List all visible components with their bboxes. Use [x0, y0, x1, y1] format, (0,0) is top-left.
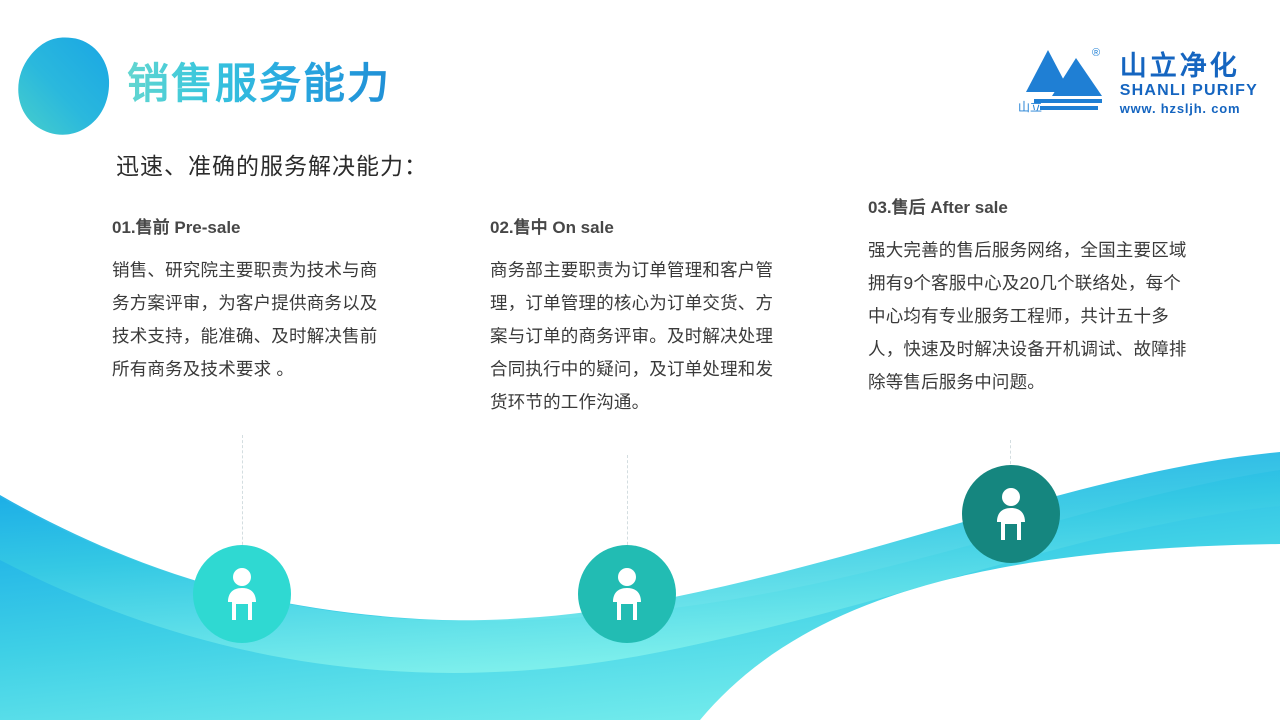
- section-subtitle: 迅速、准确的服务解决能力：: [116, 150, 428, 182]
- logo-company-name-en: SHANLI PURIFY: [1120, 81, 1258, 100]
- content-column-aftersale: 03.售后 After sale 强大完善的售后服务网络，全国主要区域拥有9个客…: [868, 196, 1188, 399]
- svg-text:®: ®: [1092, 47, 1100, 59]
- decorative-blob-shape: [16, 36, 112, 136]
- slide-canvas: 销售服务能力 ® 山立 山立净化 SHANLI PURIFY www. hzsl…: [0, 0, 1280, 720]
- page-title: 销售服务能力: [127, 58, 391, 110]
- person-icon: [607, 566, 647, 622]
- column-heading: 03.售后 After sale: [868, 196, 1188, 220]
- column-body-text: 销售、研究院主要职责为技术与商务方案评审，为客户提供商务以及技术支持，能准确、及…: [112, 254, 390, 386]
- milestone-node-onsale[interactable]: [578, 545, 676, 643]
- svg-text:山立: 山立: [1018, 99, 1042, 114]
- logo-website-url: www. hzsljh. com: [1120, 100, 1258, 117]
- milestone-node-presale[interactable]: [193, 545, 291, 643]
- column-heading: 02.售中 On sale: [490, 216, 780, 240]
- company-logo: ® 山立 山立净化 SHANLI PURIFY www. hzsljh. com: [1018, 44, 1258, 117]
- mountain-logo-icon: ® 山立: [1018, 44, 1110, 116]
- column-body-text: 强大完善的售后服务网络，全国主要区域拥有9个客服中心及20几个联络处，每个中心均…: [868, 234, 1188, 399]
- logo-company-name-cn: 山立净化: [1120, 51, 1258, 81]
- person-icon: [222, 566, 262, 622]
- person-icon: [991, 486, 1031, 542]
- content-column-onsale: 02.售中 On sale 商务部主要职责为订单管理和客户管理，订单管理的核心为…: [490, 216, 780, 419]
- connector-line-1: [242, 435, 243, 560]
- column-heading: 01.售前 Pre-sale: [112, 216, 390, 240]
- milestone-node-aftersale[interactable]: [962, 465, 1060, 563]
- content-column-presale: 01.售前 Pre-sale 销售、研究院主要职责为技术与商务方案评审，为客户提…: [112, 216, 390, 386]
- column-body-text: 商务部主要职责为订单管理和客户管理，订单管理的核心为订单交货、方案与订单的商务评…: [490, 254, 780, 419]
